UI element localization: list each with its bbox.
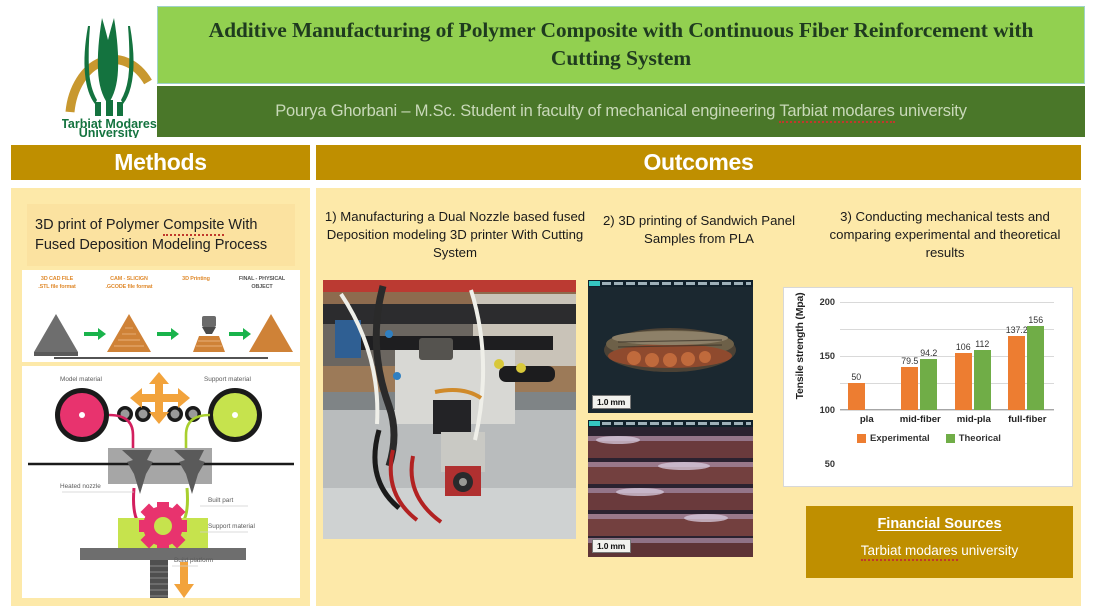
micro-2-graphic — [588, 420, 753, 557]
chart-y-tick: 100 — [820, 405, 835, 415]
chart-bar-group: 137.2156 — [1008, 326, 1044, 410]
author-prefix: Pourya Ghorbani – M.Sc. Student in facul… — [275, 102, 779, 120]
methods-panel: 3D print of Polymer Compsite WithFused D… — [11, 188, 310, 606]
chart-value-label: 156 — [1028, 315, 1043, 325]
chart-bar-experimental: 137.2 — [1008, 336, 1025, 410]
fdm-workflow-diagram: 3D CAD FILE .STL file format CAM - SLICI… — [22, 270, 300, 362]
chart-y-tick: 50 — [825, 459, 835, 469]
chart-bar-experimental: 79.5 — [901, 367, 918, 410]
chart-bar-theorical: 112 — [974, 350, 991, 410]
workflow-label-1: 3D CAD FILE .STL file format — [24, 276, 90, 292]
micro-1-metadata-strip — [588, 280, 753, 287]
chart-x-tick: full-fiber — [1001, 414, 1055, 425]
chart-y-axis-label: Tensile strength (Mpa) — [794, 276, 806, 416]
financial-university-misspelled: Tarbiat modares — [861, 543, 958, 561]
chart-x-tick: mid-fiber — [894, 414, 948, 425]
author-suffix: university — [895, 102, 967, 120]
methods-caption-misspelled: Compsite — [163, 217, 224, 236]
author-university-misspelled: Tarbiat modares — [779, 102, 894, 123]
chart-legend: ExperimentalTheorical — [784, 433, 1074, 444]
chart-bar-group: 79.594.2 — [901, 359, 937, 410]
fdm-label-support-material: Support material — [204, 376, 251, 383]
sandwich-panel-surface-image: 1.0 mm — [588, 420, 753, 557]
author-line: Pourya Ghorbani – M.Sc. Student in facul… — [275, 102, 967, 121]
outcomes-panel: 1) Manufacturing a Dual Nozzle based fus… — [316, 188, 1081, 606]
chart-bar-group: 106112 — [955, 350, 991, 410]
fdm-process-schematic: Model material Support material Heated n… — [22, 366, 300, 598]
sandwich-panel-cross-section-image: 1.0 mm — [588, 280, 753, 413]
poster-title-bar: Additive Manufacturing of Polymer Compos… — [157, 6, 1085, 84]
financial-university-suffix: university — [958, 543, 1019, 558]
workflow-graphics — [22, 300, 300, 360]
micro-2-tag — [589, 421, 600, 426]
chart-gridline: 200 — [840, 302, 1054, 303]
chart-legend-item: Experimental — [857, 433, 930, 444]
workflow-label-2: CAM - SLICIGN .GCODE file format — [94, 276, 164, 292]
chart-value-label: 50 — [851, 372, 861, 382]
financial-sources-title: Financial Sources — [806, 516, 1073, 532]
methods-caption-c: With — [224, 217, 257, 233]
methods-title: Methods — [114, 149, 206, 176]
workflow-label-3: 3D Printing — [168, 276, 224, 284]
chart-value-label: 79.5 — [901, 356, 918, 366]
university-logo: Tarbiat Modares University — [62, 4, 157, 138]
chart-x-tick: mid-pla — [947, 414, 1001, 425]
section-header-outcomes: Outcomes — [316, 145, 1081, 180]
chart-value-label: 106 — [956, 342, 971, 352]
fdm-schematic-graphic — [22, 366, 300, 598]
section-header-methods: Methods — [11, 145, 310, 180]
fdm-label-build-platform: Build platform — [174, 557, 213, 564]
chart-value-label: 112 — [975, 339, 989, 349]
printer-photo — [323, 280, 576, 539]
logo-line2: University — [79, 126, 139, 138]
chart-legend-swatch — [857, 434, 866, 443]
chart-legend-item: Theorical — [946, 433, 1001, 444]
micro-2-scalebar: 1.0 mm — [592, 539, 631, 553]
chart-x-tick: pla — [840, 414, 894, 425]
methods-caption-text: 3D print of Polymer Compsite WithFused D… — [35, 215, 267, 256]
fdm-label-support-material-2: Support material — [208, 523, 255, 530]
outcomes-title: Outcomes — [643, 149, 753, 176]
chart-bar-experimental: 106 — [955, 353, 972, 410]
outcome-caption-1: 1) Manufacturing a Dual Nozzle based fus… — [324, 208, 586, 261]
micro-1-metadata-text — [602, 282, 751, 285]
fdm-label-model-material: Model material — [60, 376, 102, 383]
chart-legend-swatch — [946, 434, 955, 443]
chart-y-tick: 200 — [820, 297, 835, 307]
chart-value-label: 137.2 — [1006, 325, 1028, 335]
chart-bar-theorical: 156 — [1027, 326, 1044, 410]
methods-caption-a: 3D print of Polymer — [35, 217, 163, 233]
tensile-strength-chart: Tensile strength (Mpa) 05010015020050pla… — [783, 287, 1073, 487]
page-title: Additive Manufacturing of Polymer Compos… — [172, 17, 1070, 72]
author-bar: Pourya Ghorbani – M.Sc. Student in facul… — [157, 86, 1085, 137]
fdm-label-heated-nozzle: Heated nozzle — [60, 483, 101, 490]
outcome-caption-2: 2) 3D printing of Sandwich Panel Samples… — [588, 212, 810, 248]
outcome-caption-3: 3) Conducting mechanical tests and compa… — [814, 208, 1076, 261]
chart-legend-label: Experimental — [870, 433, 930, 444]
fdm-label-built-part: Built part — [208, 497, 233, 504]
workflow-labels: 3D CAD FILE .STL file format CAM - SLICI… — [22, 276, 300, 302]
micro-1-scalebar: 1.0 mm — [592, 395, 631, 409]
poster-header: Tarbiat Modares University Additive Manu… — [0, 0, 1093, 142]
logo-graphic: Tarbiat Modares University — [62, 4, 157, 138]
chart-plot-area: 05010015020050pla79.594.2mid-fiber106112… — [840, 302, 1054, 410]
chart-bar-theorical: 94.2 — [920, 359, 937, 410]
workflow-label-4: FINAL - PHYSICAL OBJECT — [226, 276, 298, 292]
financial-sources-body: Tarbiat modares university — [806, 543, 1073, 558]
chart-bar-group: 50 — [848, 383, 865, 410]
methods-caption-line2: Fused Deposition Modeling Process — [35, 237, 267, 253]
financial-sources-box: Financial Sources Tarbiat modares univer… — [806, 506, 1073, 578]
chart-legend-label: Theorical — [959, 433, 1001, 444]
micro-1-tag — [589, 281, 600, 286]
micro-2-metadata-strip — [588, 420, 753, 427]
chart-y-tick: 150 — [820, 351, 835, 361]
micro-1-graphic — [588, 280, 753, 413]
printer-photo-graphic — [323, 280, 576, 539]
methods-caption: 3D print of Polymer Compsite WithFused D… — [27, 204, 295, 266]
chart-value-label: 94.2 — [920, 348, 937, 358]
chart-gridline: 0 — [840, 410, 1054, 411]
chart-bar-experimental: 50 — [848, 383, 865, 410]
micro-2-metadata-text — [602, 422, 751, 425]
